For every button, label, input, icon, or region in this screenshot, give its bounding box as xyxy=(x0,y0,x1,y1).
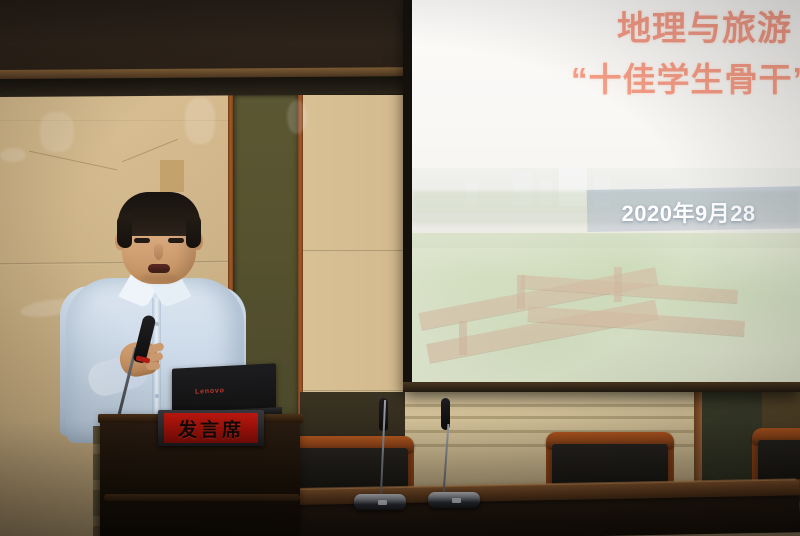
shirt-button xyxy=(155,322,159,326)
eye-left xyxy=(134,238,150,243)
eye-right xyxy=(168,238,184,243)
slide-title-line-2: “十佳学生骨干” xyxy=(412,53,800,101)
podium-sign: 发言席 xyxy=(164,413,258,443)
microphone-indicator-icon xyxy=(452,498,461,503)
mouth xyxy=(148,264,170,273)
wall-scuff xyxy=(287,100,307,134)
chin-shadow xyxy=(140,274,178,282)
presentation-photo-scene: 地理与旅游 “十佳学生骨干” 2020年9月28 xyxy=(0,0,800,536)
microphone-indicator-icon xyxy=(378,500,387,505)
wall-scuff xyxy=(0,148,26,162)
hair-side-left xyxy=(117,214,132,248)
wall-scratch xyxy=(160,160,184,192)
projection-screen: 地理与旅游 “十佳学生骨干” 2020年9月28 xyxy=(412,0,800,382)
hair-side-right xyxy=(186,214,201,248)
ceiling-shadow xyxy=(0,76,430,97)
projection-screen-bottom-trim xyxy=(403,382,800,392)
podium-rail xyxy=(104,494,300,501)
projection-screen-frame: 地理与旅游 “十佳学生骨干” 2020年9月28 xyxy=(403,0,800,392)
slide-date-text: 2020年9月28 xyxy=(622,196,756,228)
wall-scuff xyxy=(185,98,215,144)
slide-title-line-1: 地理与旅游 xyxy=(412,1,792,50)
shirt-button xyxy=(155,394,159,398)
wall-scuff xyxy=(40,112,74,152)
nose xyxy=(154,244,163,260)
podium-sign-text: 发言席 xyxy=(178,415,244,442)
wall-seam xyxy=(300,250,420,252)
